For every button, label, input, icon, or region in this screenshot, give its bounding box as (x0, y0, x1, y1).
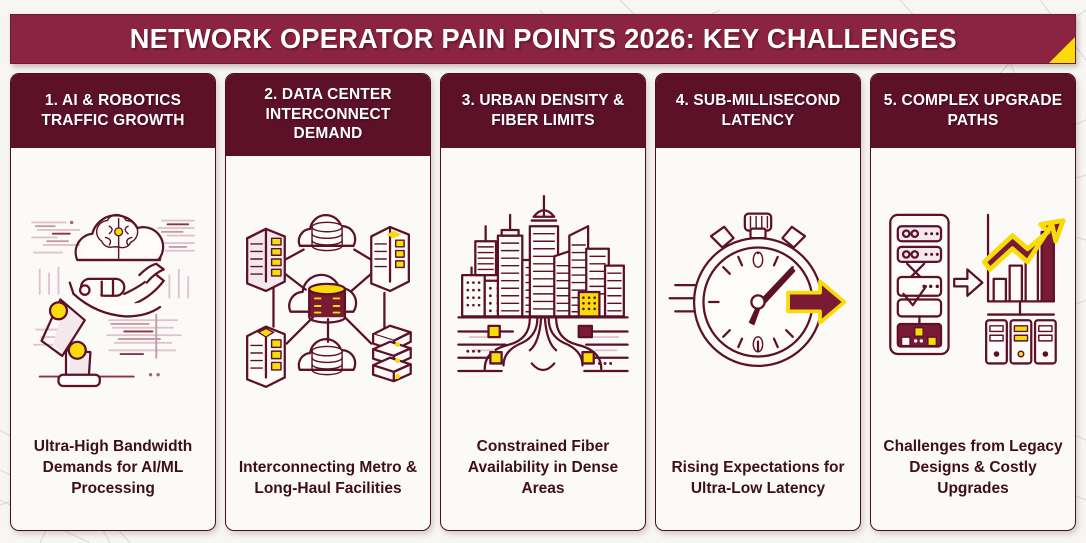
corner-fold-accent (1049, 37, 1075, 63)
panel-ai-robotics-traffic-growth[interactable]: 1. AI & ROBOTICS TRAFFIC GROWTH (10, 73, 216, 531)
infographic-root: NETWORK OPERATOR PAIN POINTS 2026: KEY C… (0, 0, 1086, 543)
robot-arm-holding-cloud-brain-icon (11, 148, 215, 431)
panel-sub-millisecond-latency[interactable]: 4. SUB-MILLISECOND LATENCY (655, 73, 861, 531)
panel-header: 2. DATA CENTER INTERCONNECT DEMAND (226, 74, 430, 156)
page-title: NETWORK OPERATOR PAIN POINTS 2026: KEY C… (129, 23, 956, 55)
panel-urban-density-fiber-limits[interactable]: 3. URBAN DENSITY & FIBER LIMITS (440, 73, 646, 531)
panel-header: 3. URBAN DENSITY & FIBER LIMITS (441, 74, 645, 148)
panel-caption: Constrained Fiber Availability in Dense … (441, 431, 645, 530)
legacy-to-growth-upgrade-icon (871, 148, 1075, 431)
panel-caption: Rising Expectations for Ultra-Low Latenc… (656, 452, 860, 530)
panel-data-center-interconnect-demand[interactable]: 2. DATA CENTER INTERCONNECT DEMAND (225, 73, 431, 531)
panel-caption: Ultra-High Bandwidth Demands for AI/ML P… (11, 431, 215, 530)
panel-header: 5. COMPLEX UPGRADE PATHS (871, 74, 1075, 148)
columns-container: 1. AI & ROBOTICS TRAFFIC GROWTH (10, 73, 1076, 531)
stopwatch-speed-arrow-icon (656, 148, 860, 452)
panel-complex-upgrade-paths[interactable]: 5. COMPLEX UPGRADE PATHS (870, 73, 1076, 531)
panel-caption: Challenges from Legacy Designs & Costly … (871, 431, 1075, 530)
title-banner: NETWORK OPERATOR PAIN POINTS 2026: KEY C… (10, 14, 1076, 64)
panel-header: 1. AI & ROBOTICS TRAFFIC GROWTH (11, 74, 215, 148)
datacenter-interconnect-network-icon (226, 156, 430, 452)
city-skyline-fiber-conduit-icon (441, 148, 645, 431)
panel-header: 4. SUB-MILLISECOND LATENCY (656, 74, 860, 148)
panel-caption: Interconnecting Metro & Long-Haul Facili… (226, 452, 430, 530)
